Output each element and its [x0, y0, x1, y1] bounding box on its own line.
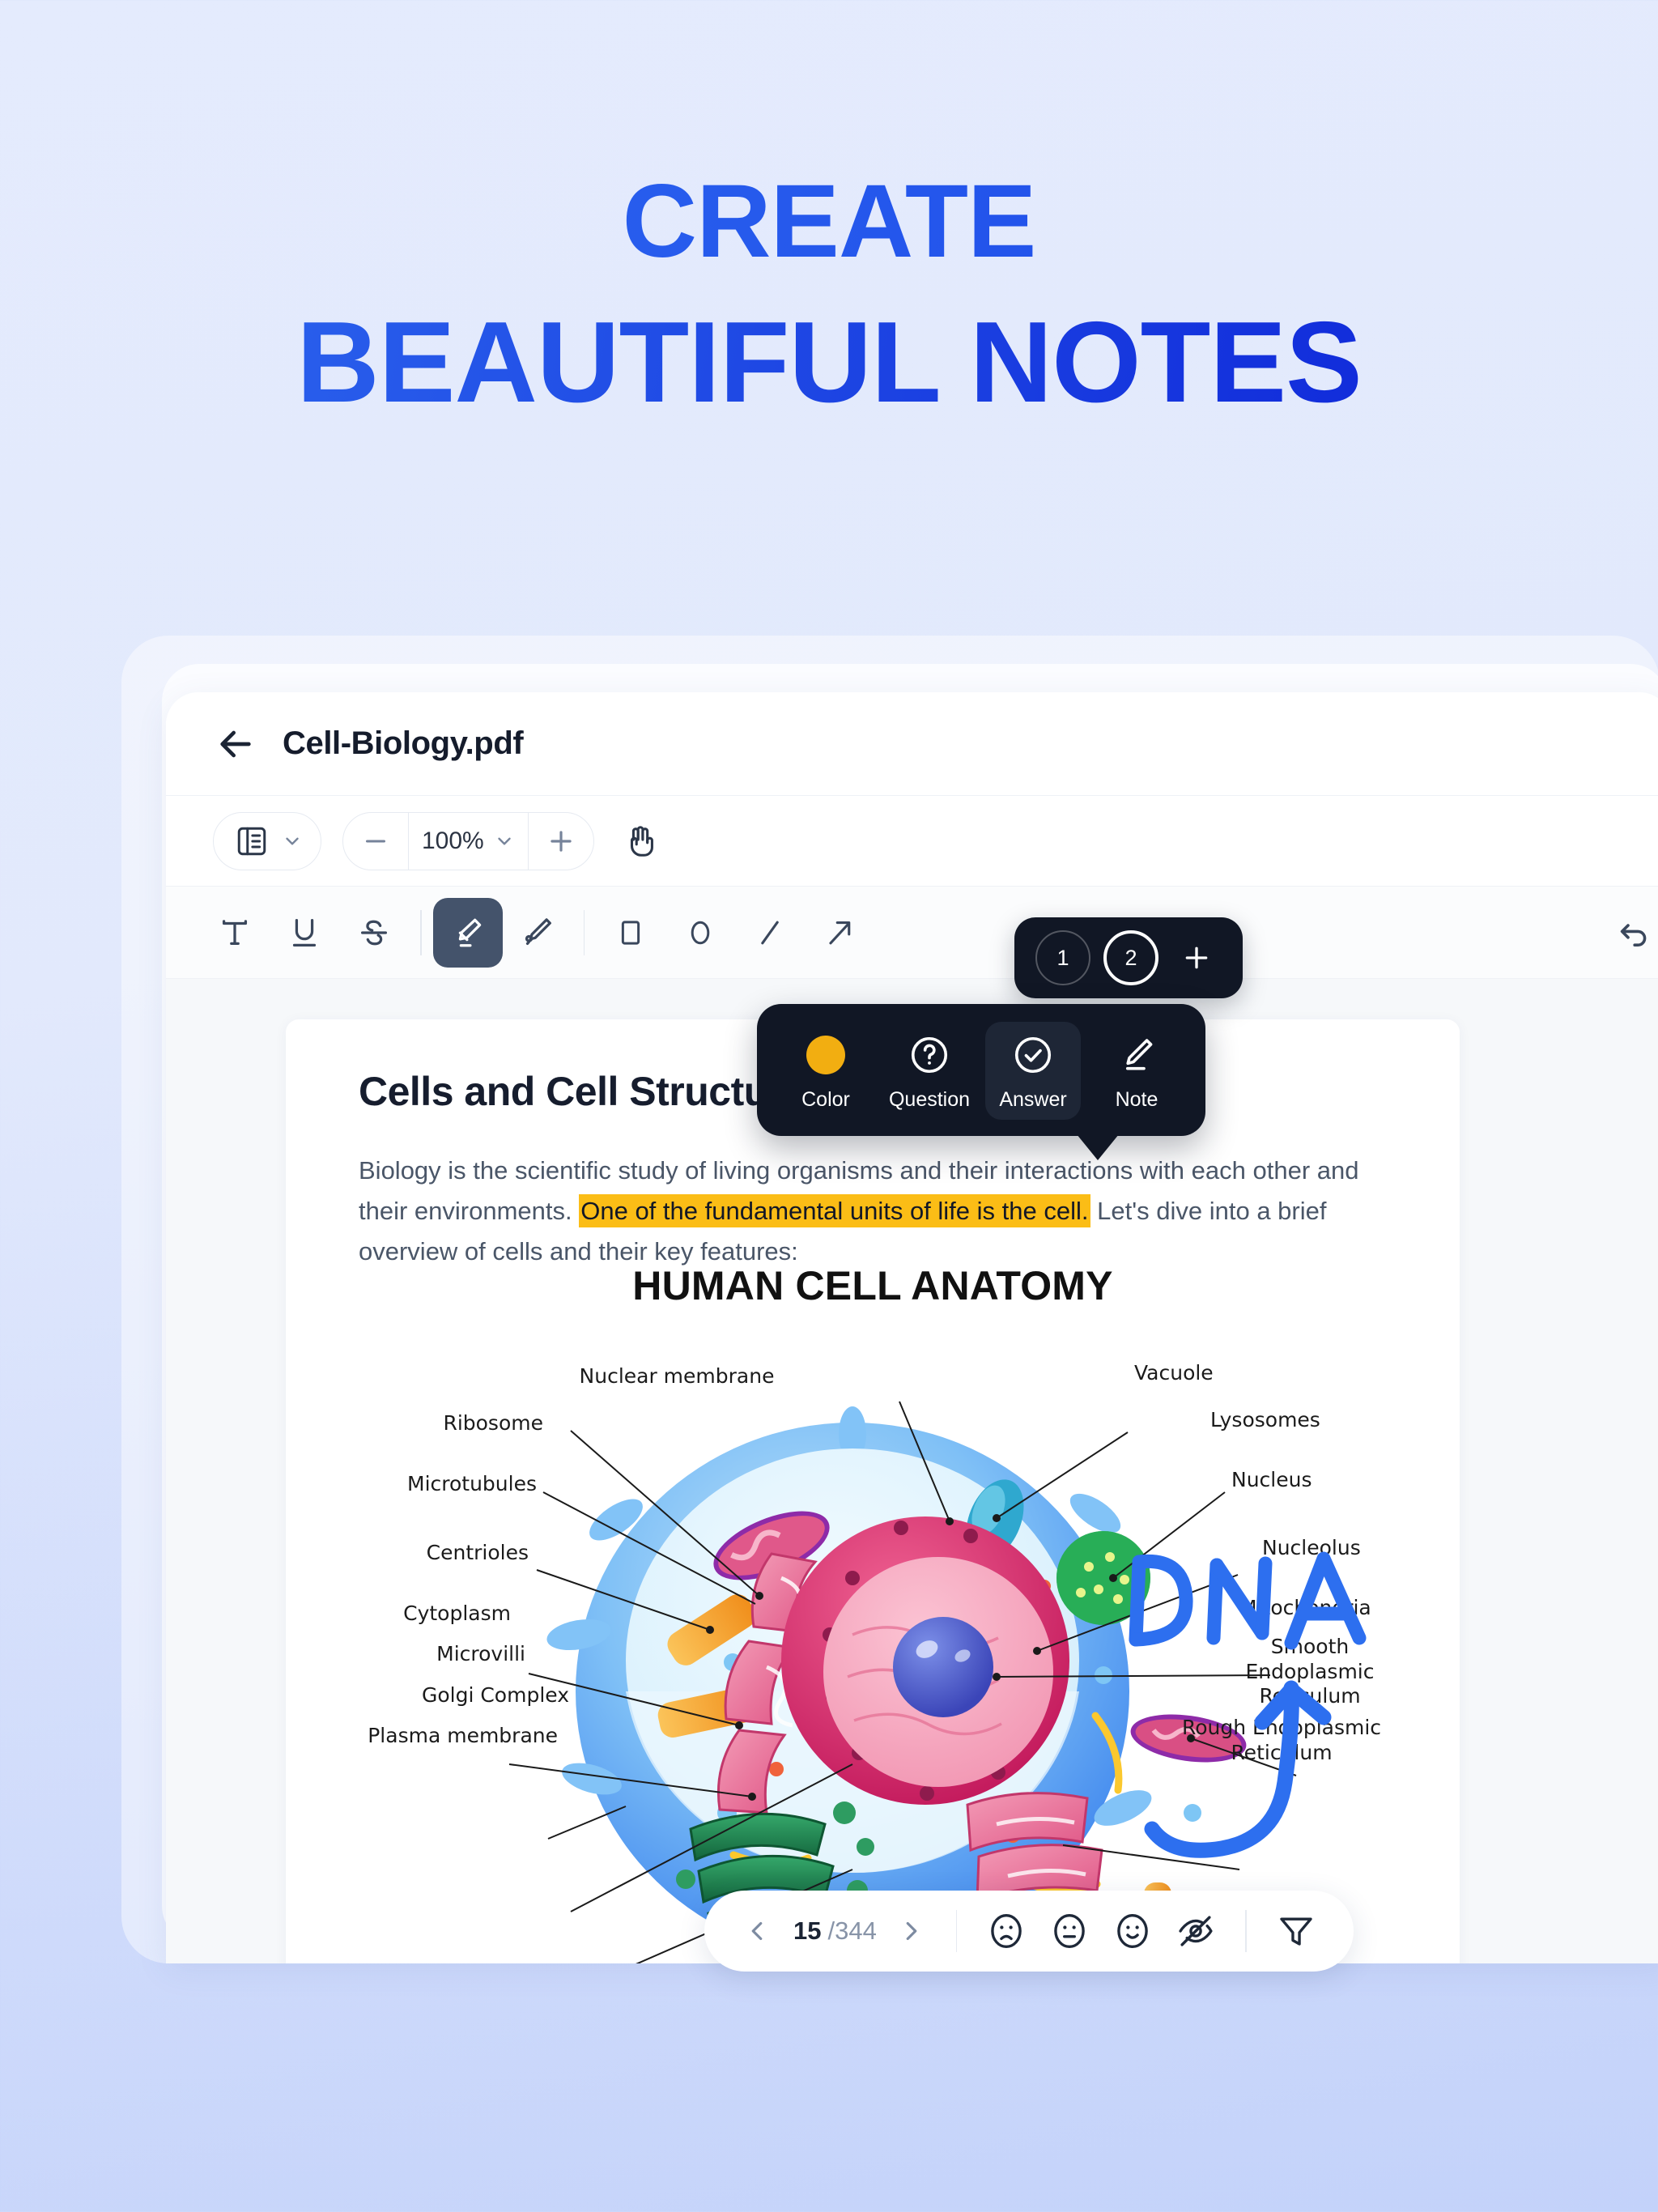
eye-off-icon: [1174, 1909, 1218, 1953]
current-page-number[interactable]: 15: [785, 1916, 824, 1946]
figure-title: HUMAN CELL ANATOMY: [286, 1262, 1460, 1309]
figure-label-nuclear-membrane: Nuclear membrane: [580, 1364, 775, 1388]
tool-rectangle[interactable]: [596, 898, 665, 968]
pen-icon: [519, 914, 556, 951]
figure-label-rough-er: Rough Endoplasmic Reticulum: [1180, 1716, 1383, 1765]
text-icon: [216, 914, 253, 951]
tool-text[interactable]: [200, 898, 270, 968]
page-chip-add-button[interactable]: [1171, 933, 1222, 983]
hand-icon: [623, 823, 660, 860]
highlighted-sentence[interactable]: One of the fundamental units of life is …: [579, 1194, 1090, 1227]
color-swatch-icon: [806, 1033, 845, 1077]
zoom-out-button[interactable]: [343, 813, 408, 870]
page-layout-button[interactable]: [213, 812, 321, 870]
context-menu-color-label: Color: [801, 1088, 850, 1112]
figure-label-lysosomes: Lysosomes: [1210, 1408, 1320, 1431]
figure-label-plasma-membrane: Plasma membrane: [368, 1724, 558, 1747]
zoom-toolbar: 100%: [166, 796, 1658, 887]
check-circle-icon: [1011, 1033, 1055, 1077]
tool-highlighter[interactable]: [433, 898, 503, 968]
chevron-down-icon: [494, 831, 515, 852]
tool-ellipse[interactable]: [665, 898, 735, 968]
figure-label-microtubules: Microtubules: [407, 1472, 537, 1495]
chevron-right-icon: [896, 1916, 927, 1946]
page-chip-item-1[interactable]: 1: [1035, 930, 1090, 985]
arrow-icon: [822, 915, 857, 951]
previous-page-button[interactable]: [732, 1906, 782, 1956]
underline-icon: [286, 914, 323, 951]
strikethrough-icon: [355, 914, 393, 951]
annotation-context-menu: Color Question Answer Note: [757, 1004, 1205, 1136]
document-paragraph: Biology is the scientific study of livin…: [359, 1151, 1399, 1273]
reaction-neutral-button[interactable]: [1039, 1901, 1099, 1961]
highlighter-icon: [449, 914, 487, 951]
figure-label-microvilli: Microvilli: [436, 1642, 525, 1665]
chevron-left-icon: [742, 1916, 772, 1946]
pan-hand-button[interactable]: [615, 815, 667, 867]
filter-button[interactable]: [1266, 1901, 1326, 1961]
rectangle-icon: [614, 916, 648, 950]
pen-icon: [1115, 1033, 1158, 1077]
pagination-divider: [956, 1910, 958, 1952]
cell-anatomy-figure: HUMAN CELL ANATOMY: [286, 1262, 1460, 1963]
back-icon[interactable]: [213, 721, 258, 767]
zoom-in-button[interactable]: [529, 813, 593, 870]
toolbar-divider: [584, 910, 585, 955]
reaction-happy-button[interactable]: [1103, 1901, 1163, 1961]
hero-headline-line-2: BEAUTIFUL NOTES: [0, 300, 1658, 424]
context-menu-note[interactable]: Note: [1089, 1022, 1184, 1120]
figure-label-cytoplasm: Cytoplasm: [403, 1602, 511, 1625]
figure-label-mitochondria: Mitochondria: [1239, 1596, 1371, 1619]
document-heading: Cells and Cell Structure: [359, 1068, 806, 1115]
hero-headline-line-1: CREATE: [0, 166, 1658, 278]
annotation-toolbar: [166, 887, 1658, 979]
zoom-level-button[interactable]: 100%: [408, 813, 529, 870]
reaction-sad-button[interactable]: [976, 1901, 1036, 1961]
figure-label-nucleolus: Nucleolus: [1262, 1536, 1361, 1559]
context-menu-color[interactable]: Color: [778, 1022, 874, 1120]
plus-icon: [1180, 942, 1213, 974]
context-menu-pointer: [1077, 1134, 1119, 1160]
titlebar: Cell-Biology.pdf: [166, 692, 1658, 796]
figure-label-smooth-er: Smooth Endoplasmic Reticulum: [1209, 1635, 1411, 1709]
undo-button[interactable]: [1599, 898, 1658, 968]
hero-headline: CREATE BEAUTIFUL NOTES: [0, 166, 1658, 425]
zoom-level-value: 100%: [422, 827, 484, 855]
neutral-face-icon: [1048, 1909, 1091, 1953]
minus-icon: [361, 827, 390, 856]
undo-icon: [1614, 913, 1653, 952]
sad-face-icon: [984, 1909, 1028, 1953]
happy-face-icon: [1111, 1909, 1154, 1953]
context-menu-question-label: Question: [889, 1088, 970, 1112]
tool-line[interactable]: [735, 898, 805, 968]
pdf-page: Cells and Cell Structure Biology is the …: [286, 1019, 1460, 1963]
tool-arrow[interactable]: [805, 898, 874, 968]
context-menu-question[interactable]: Question: [882, 1022, 977, 1120]
app-window: Cell-Biology.pdf 100%: [166, 692, 1658, 1963]
tool-underline[interactable]: [270, 898, 339, 968]
figure-label-ribosome: Ribosome: [443, 1411, 543, 1435]
tool-pen[interactable]: [503, 898, 572, 968]
figure-label-vacuole: Vacuole: [1134, 1361, 1214, 1385]
figure-label-nucleus: Nucleus: [1231, 1468, 1312, 1491]
line-icon: [752, 915, 788, 951]
figure-label-golgi-complex: Golgi Complex: [422, 1683, 569, 1707]
pagination-bar: 15 /344: [704, 1891, 1354, 1972]
context-menu-answer[interactable]: Answer: [985, 1022, 1081, 1120]
document-title: Cell-Biology.pdf: [283, 725, 523, 762]
plus-icon: [546, 826, 576, 857]
pagination-divider: [1245, 1910, 1247, 1952]
next-page-button[interactable]: [886, 1906, 937, 1956]
chevron-down-icon: [282, 831, 303, 852]
context-menu-answer-label: Answer: [999, 1088, 1066, 1112]
filter-icon: [1274, 1909, 1318, 1953]
context-menu-note-label: Note: [1116, 1088, 1158, 1112]
toolbar-divider: [420, 910, 422, 955]
total-page-count: /344: [827, 1916, 882, 1946]
figure-label-centrioles: Centrioles: [427, 1541, 529, 1564]
ellipse-icon: [683, 916, 717, 950]
zoom-control-group: 100%: [342, 812, 594, 870]
question-circle-icon: [908, 1033, 951, 1077]
tool-strikethrough[interactable]: [339, 898, 409, 968]
page-chip-item-2[interactable]: 2: [1103, 930, 1158, 985]
annotation-page-chip: 1 2: [1014, 917, 1243, 998]
hide-annotations-button[interactable]: [1166, 1901, 1226, 1961]
